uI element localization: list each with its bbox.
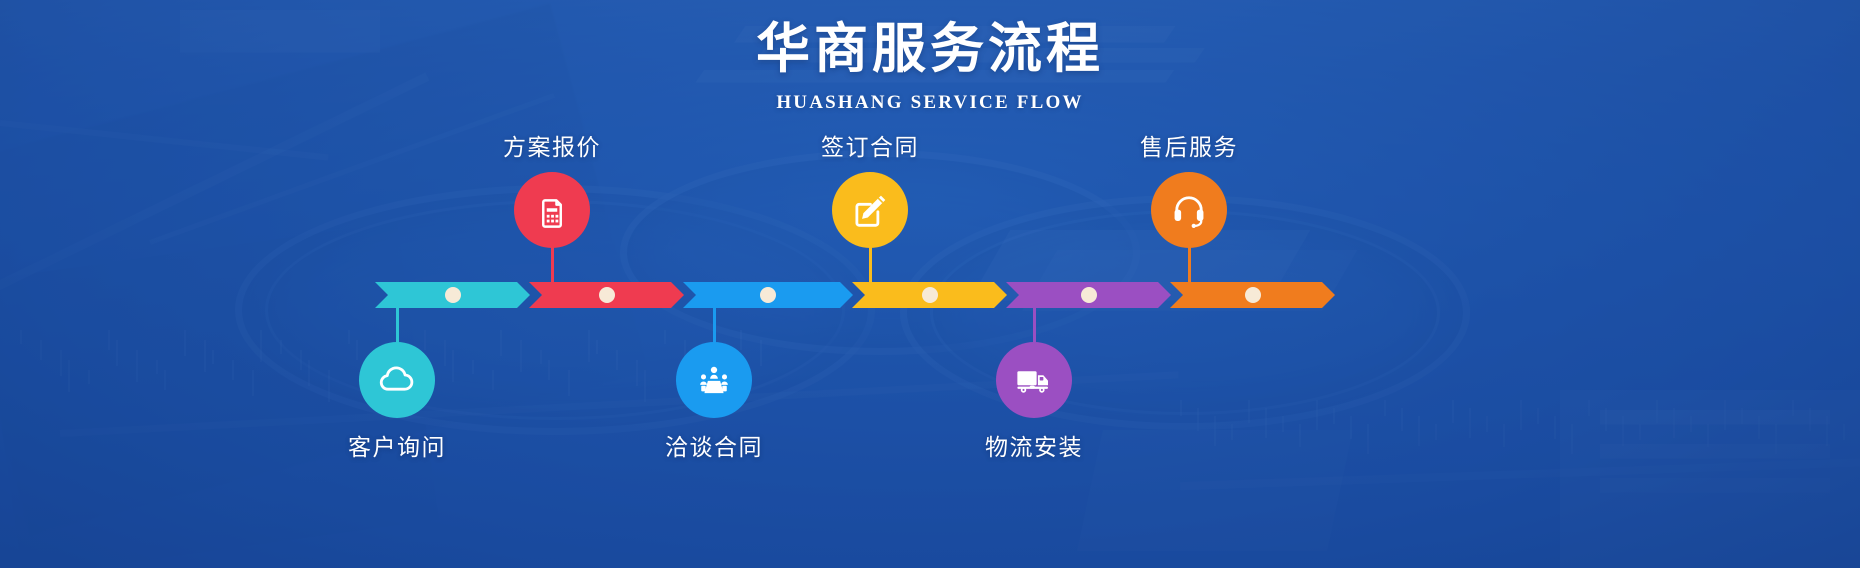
pen-edit-icon bbox=[849, 189, 891, 231]
service-flow-diagram bbox=[375, 282, 1510, 308]
flow-segment-dot bbox=[1245, 287, 1261, 303]
flow-node-label: 方案报价 bbox=[452, 128, 652, 162]
banner-header: 华商服务流程 HUASHANG SERVICE FLOW bbox=[0, 0, 1860, 114]
flow-node-circle[interactable] bbox=[359, 342, 435, 418]
flow-node-circle[interactable] bbox=[1151, 172, 1227, 248]
meeting-icon bbox=[693, 359, 735, 401]
flow-node-label: 签订合同 bbox=[770, 128, 970, 162]
flow-node-circle[interactable] bbox=[514, 172, 590, 248]
flow-node-circle[interactable] bbox=[676, 342, 752, 418]
flow-segment-dot bbox=[1081, 287, 1097, 303]
flow-segment-dot bbox=[760, 287, 776, 303]
flow-node-label: 洽谈合同 bbox=[614, 428, 814, 462]
flow-node-label: 物流安装 bbox=[934, 428, 1134, 462]
calculator-icon bbox=[531, 189, 573, 231]
headset-icon bbox=[1168, 189, 1210, 231]
page-title: 华商服务流程 bbox=[0, 18, 1860, 82]
flow-segment-4[interactable] bbox=[852, 282, 1007, 308]
flow-segment-1[interactable] bbox=[375, 282, 530, 308]
flow-node-circle[interactable] bbox=[996, 342, 1072, 418]
flow-segment-dot bbox=[445, 287, 461, 303]
flow-segment-dot bbox=[599, 287, 615, 303]
flow-node-circle[interactable] bbox=[832, 172, 908, 248]
flow-segment-2[interactable] bbox=[529, 282, 684, 308]
flow-node-label: 客户询问 bbox=[297, 428, 497, 462]
flow-segment-dot bbox=[922, 287, 938, 303]
flow-segment-6[interactable] bbox=[1170, 282, 1335, 308]
flow-segment-3[interactable] bbox=[683, 282, 853, 308]
flow-node-label: 售后服务 bbox=[1089, 128, 1289, 162]
banner-stage: 华商服务流程 HUASHANG SERVICE FLOW 客户询问方案报价洽谈合… bbox=[0, 0, 1860, 568]
flow-segment-5[interactable] bbox=[1006, 282, 1171, 308]
truck-icon bbox=[1013, 359, 1055, 401]
cloud-icon bbox=[376, 359, 418, 401]
page-subtitle: HUASHANG SERVICE FLOW bbox=[0, 92, 1860, 114]
